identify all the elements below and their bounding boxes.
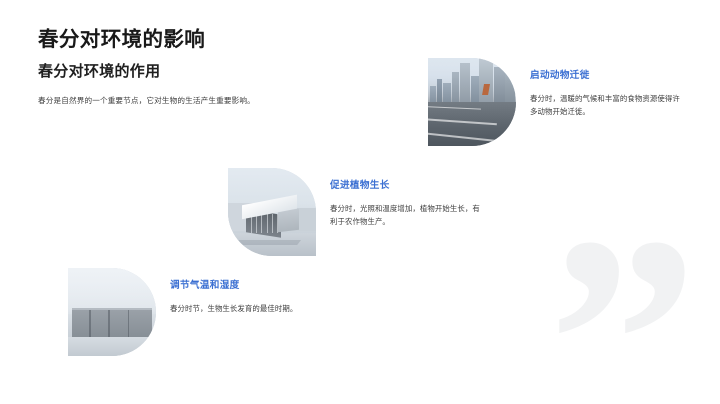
page-subtitle: 春分对环境的作用	[38, 62, 378, 82]
page-title: 春分对环境的影响	[38, 27, 378, 53]
card-title: 启动动物迁徙	[530, 70, 682, 82]
content-card-plant-growth[interactable]: 促进植物生长 春分时，光照和温度增加，植物开始生长，有利于农作物生产。	[228, 168, 482, 256]
city-skyline-road-photo	[428, 58, 516, 146]
card-text-block: 调节气温和湿度 春分时节，生物生长发育的最佳时期。	[156, 268, 322, 316]
card-title: 促进植物生长	[330, 180, 482, 192]
quote-mark-decoration: ”	[548, 206, 698, 376]
card-description: 春分时，光照和温度增加，植物开始生长，有利于农作物生产。	[330, 203, 482, 228]
content-card-animal-migration[interactable]: 启动动物迁徙 春分时，温暖的气候和丰富的食物资源使得许多动物开始迁徙。	[428, 58, 682, 146]
card-title: 调节气温和湿度	[170, 280, 322, 292]
intro-paragraph: 春分是自然界的一个重要节点，它对生物的生活产生重要影响。	[38, 95, 378, 107]
heading-block: 春分对环境的影响 春分对环境的作用 春分是自然界的一个重要节点，它对生物的生活产…	[38, 27, 378, 107]
card-description: 春分时，温暖的气候和丰富的食物资源使得许多动物开始迁徙。	[530, 93, 682, 118]
card-text-block: 启动动物迁徙 春分时，温暖的气候和丰富的食物资源使得许多动物开始迁徙。	[516, 58, 682, 119]
modern-building-photo	[228, 168, 316, 256]
card-text-block: 促进植物生长 春分时，光照和温度增加，植物开始生长，有利于农作物生产。	[316, 168, 482, 229]
slide-canvas: ” 春分对环境的影响 春分对环境的作用 春分是自然界的一个重要节点，它对生物的生…	[0, 0, 720, 404]
concrete-wall-photo	[68, 268, 156, 356]
content-card-temperature-humidity[interactable]: 调节气温和湿度 春分时节，生物生长发育的最佳时期。	[68, 268, 322, 356]
card-description: 春分时节，生物生长发育的最佳时期。	[170, 303, 322, 316]
